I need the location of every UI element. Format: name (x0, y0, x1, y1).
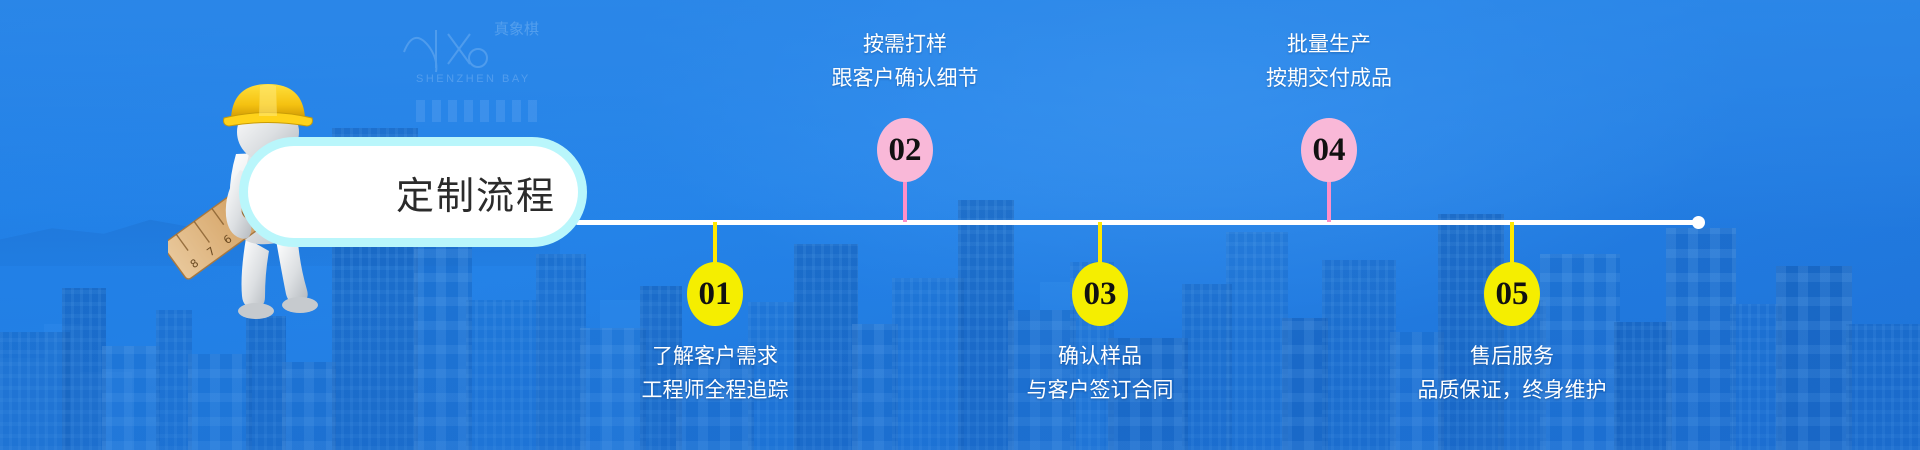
timeline-step-number-badge[interactable]: 05 (1484, 262, 1540, 326)
svg-text:SHENZHEN BAY: SHENZHEN BAY (416, 73, 531, 85)
timeline-step-number-badge[interactable]: 04 (1301, 118, 1357, 182)
timeline-axis-end-dot (1692, 216, 1705, 229)
banner-stage: 真象棋 SHENZHEN BAY (0, 0, 1920, 450)
timeline-step-number-badge[interactable]: 03 (1072, 262, 1128, 326)
timeline-step-caption-line: 品质保证，终身维护 (1372, 374, 1652, 408)
timeline-step-05[interactable]: 05售后服务品质保证，终身维护 (1372, 0, 1652, 450)
section-title-pill: 定制流程 (248, 146, 578, 238)
timeline-step-caption: 售后服务品质保证，终身维护 (1372, 340, 1652, 408)
page-title: 定制流程 (248, 146, 578, 238)
timeline-step-number-badge[interactable]: 02 (877, 118, 933, 182)
building-logo-watermark: 真象棋 SHENZHEN BAY (396, 8, 576, 158)
svg-text:真象棋: 真象棋 (494, 20, 539, 38)
timeline-step-caption-line: 售后服务 (1372, 340, 1652, 374)
timeline-step-number-badge[interactable]: 01 (687, 262, 743, 326)
